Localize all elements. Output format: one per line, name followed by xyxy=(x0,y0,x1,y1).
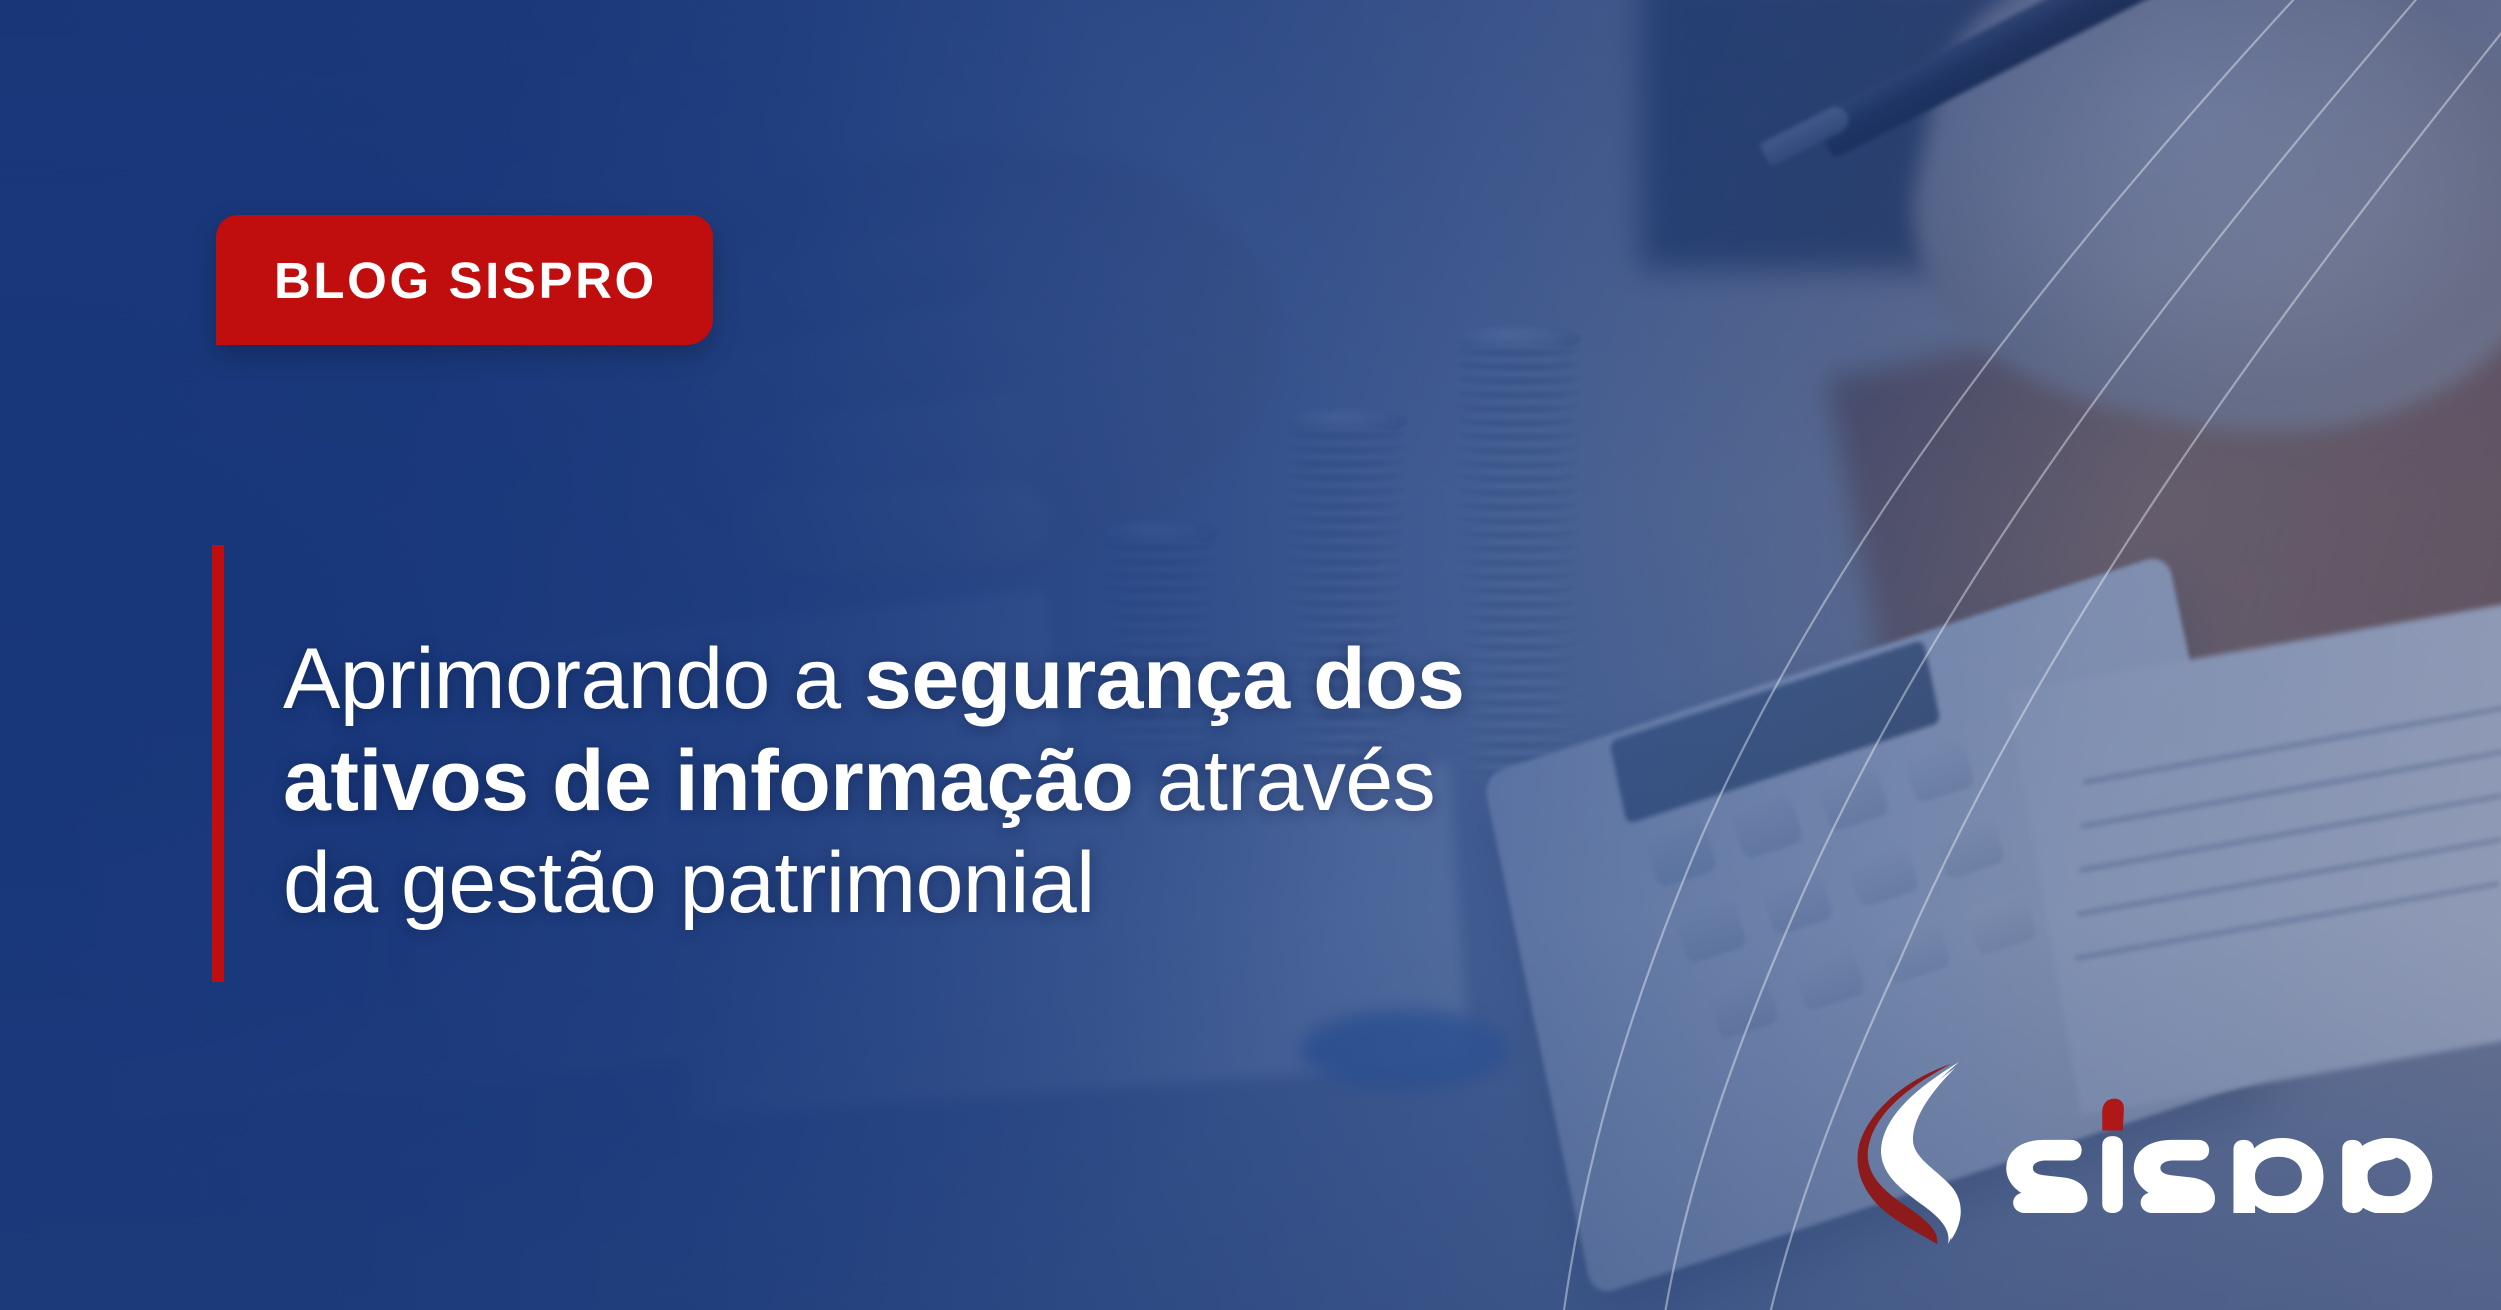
blog-badge[interactable]: BLOG SISPRO xyxy=(216,215,713,345)
blog-badge-label: BLOG SISPRO xyxy=(274,251,657,310)
sispro-i-dot-icon xyxy=(2102,1098,2124,1130)
red-accent-bar xyxy=(212,545,224,982)
sispro-logo[interactable] xyxy=(1855,1055,2455,1250)
page-title: Aprimorando a segurança dos ativos de in… xyxy=(283,628,1883,935)
sispro-wordmark xyxy=(2001,1093,2442,1213)
headline-line-2-bold: ativos de informação xyxy=(283,733,1133,829)
headline-line-3-regular: da gestão patrimonial xyxy=(283,835,1095,931)
sispro-flame-s-icon xyxy=(1855,1058,1975,1248)
blog-banner: BLOG SISPRO Aprimorando a segurança dos … xyxy=(0,0,2501,1310)
headline-line-2-regular: através xyxy=(1133,733,1435,829)
headline-line-1-regular: Aprimorando a xyxy=(283,631,864,727)
headline-line-1-bold: segurança dos xyxy=(864,631,1465,727)
